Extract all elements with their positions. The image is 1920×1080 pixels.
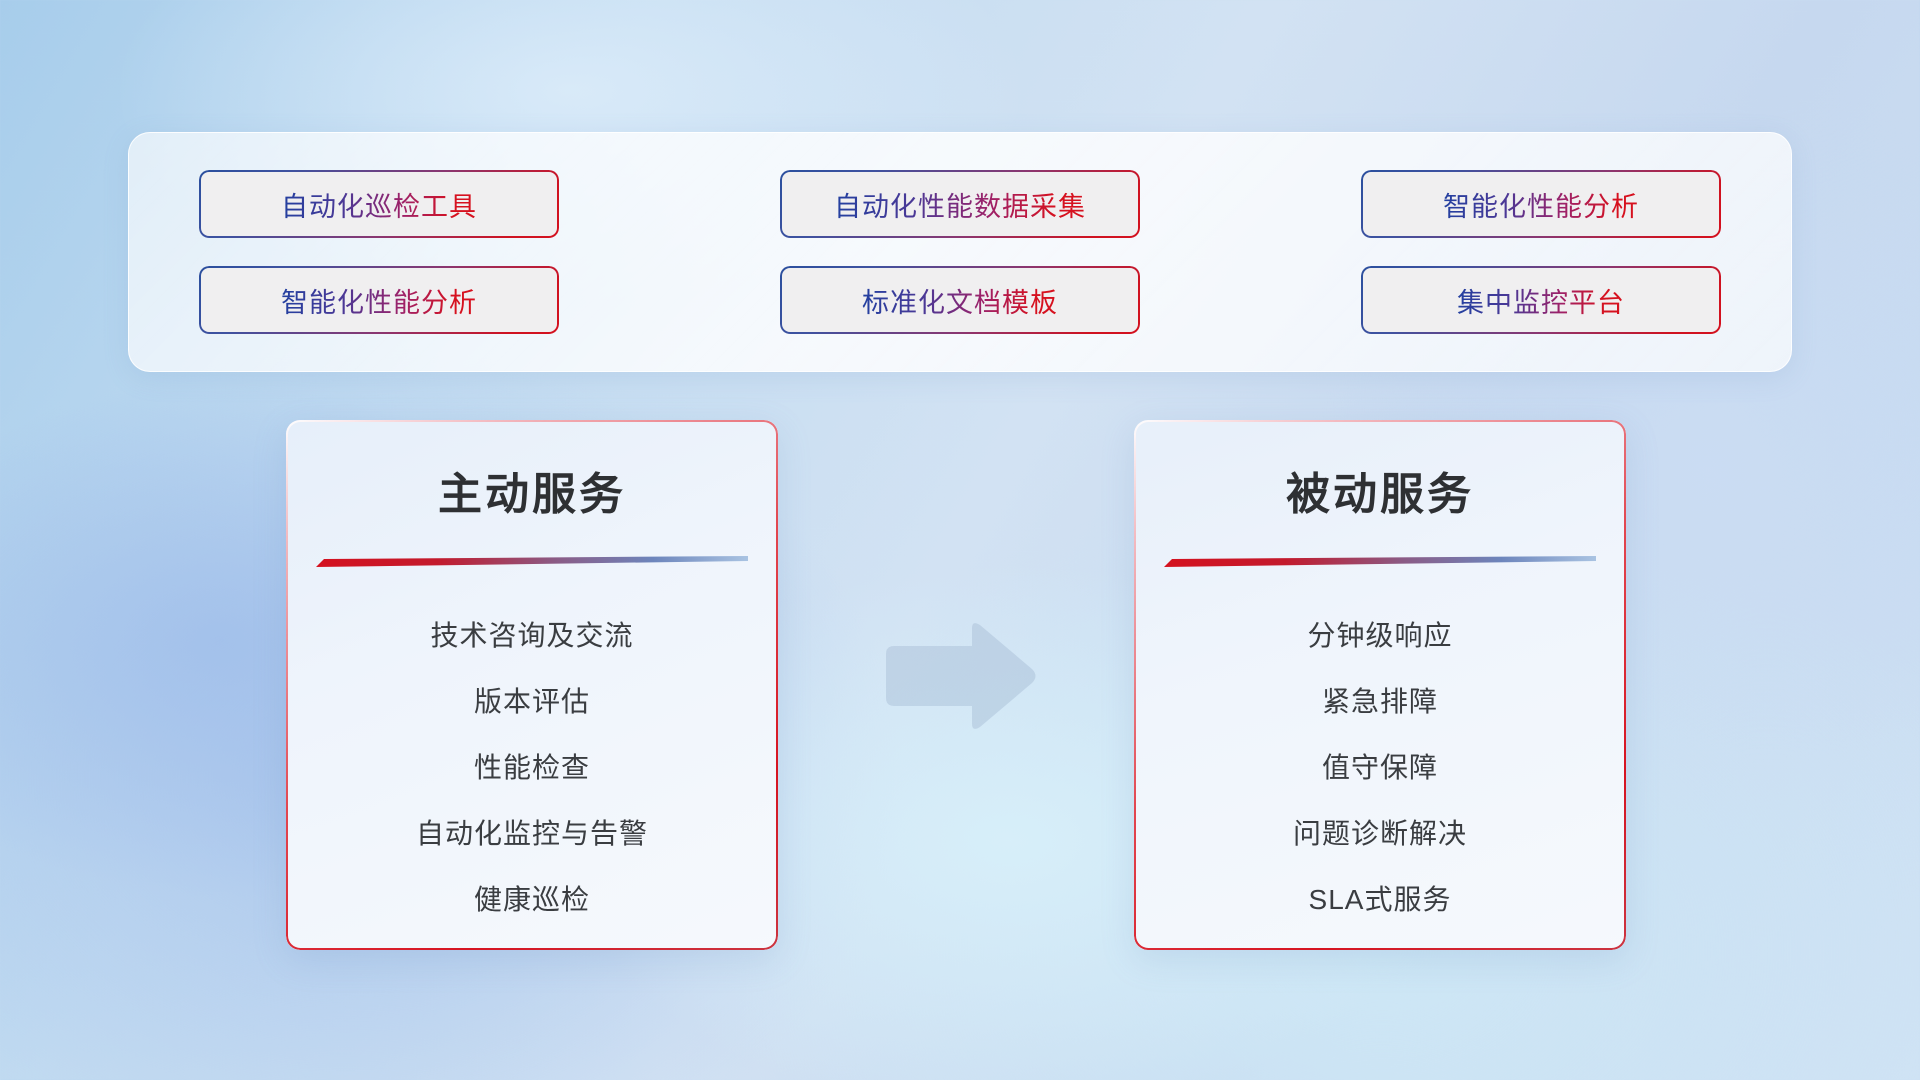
capability-chip-label: 智能化性能分析 <box>1443 185 1639 224</box>
capability-chip-automated-performance-collection[interactable]: 自动化性能数据采集 <box>780 170 1140 238</box>
list-item: 性能检查 <box>286 746 778 786</box>
capability-chip-intelligent-performance-analysis-2[interactable]: 智能化性能分析 <box>199 266 559 334</box>
list-item: 分钟级响应 <box>1134 614 1626 654</box>
card-title: 主动服务 <box>286 458 778 522</box>
capability-chip-label: 标准化文档模板 <box>862 281 1058 320</box>
capability-panel: 自动化巡检工具 自动化性能数据采集 智能化性能分析 智能化性能分析 标准化文档模… <box>128 132 1792 372</box>
list-item: 版本评估 <box>286 680 778 720</box>
list-item: 技术咨询及交流 <box>286 614 778 654</box>
list-item: 自动化监控与告警 <box>286 812 778 852</box>
list-item: SLA式服务 <box>1134 878 1626 918</box>
title-divider <box>1164 556 1596 568</box>
service-card-reactive: 被动服务 分钟级响应 紧急排障 值守保障 问题诊断解决 SLA式服务 <box>1134 420 1626 950</box>
card-title: 被动服务 <box>1134 458 1626 522</box>
capability-chip-label: 智能化性能分析 <box>281 281 477 320</box>
list-item: 值守保障 <box>1134 746 1626 786</box>
capability-row-1: 自动化巡检工具 自动化性能数据采集 智能化性能分析 <box>199 170 1721 238</box>
capability-chip-automated-inspection-tool[interactable]: 自动化巡检工具 <box>199 170 559 238</box>
capability-chip-label: 自动化巡检工具 <box>281 185 477 224</box>
capability-chip-centralized-monitoring-platform[interactable]: 集中监控平台 <box>1361 266 1721 334</box>
capability-row-2: 智能化性能分析 标准化文档模板 集中监控平台 <box>199 266 1721 334</box>
arrow-right-icon <box>876 620 1038 732</box>
list-item: 问题诊断解决 <box>1134 812 1626 852</box>
capability-chip-standard-document-template[interactable]: 标准化文档模板 <box>780 266 1140 334</box>
title-divider <box>316 556 748 568</box>
capability-chip-label: 集中监控平台 <box>1457 281 1625 320</box>
list-item: 健康巡检 <box>286 878 778 918</box>
capability-chip-intelligent-performance-analysis[interactable]: 智能化性能分析 <box>1361 170 1721 238</box>
capability-chip-label: 自动化性能数据采集 <box>834 185 1086 224</box>
service-list-proactive: 技术咨询及交流 版本评估 性能检查 自动化监控与告警 健康巡检 <box>286 614 778 918</box>
list-item: 紧急排障 <box>1134 680 1626 720</box>
service-card-proactive: 主动服务 技术咨询及交流 版本评估 性能检查 自动化监控与告警 健康巡检 <box>286 420 778 950</box>
service-list-reactive: 分钟级响应 紧急排障 值守保障 问题诊断解决 SLA式服务 <box>1134 614 1626 918</box>
